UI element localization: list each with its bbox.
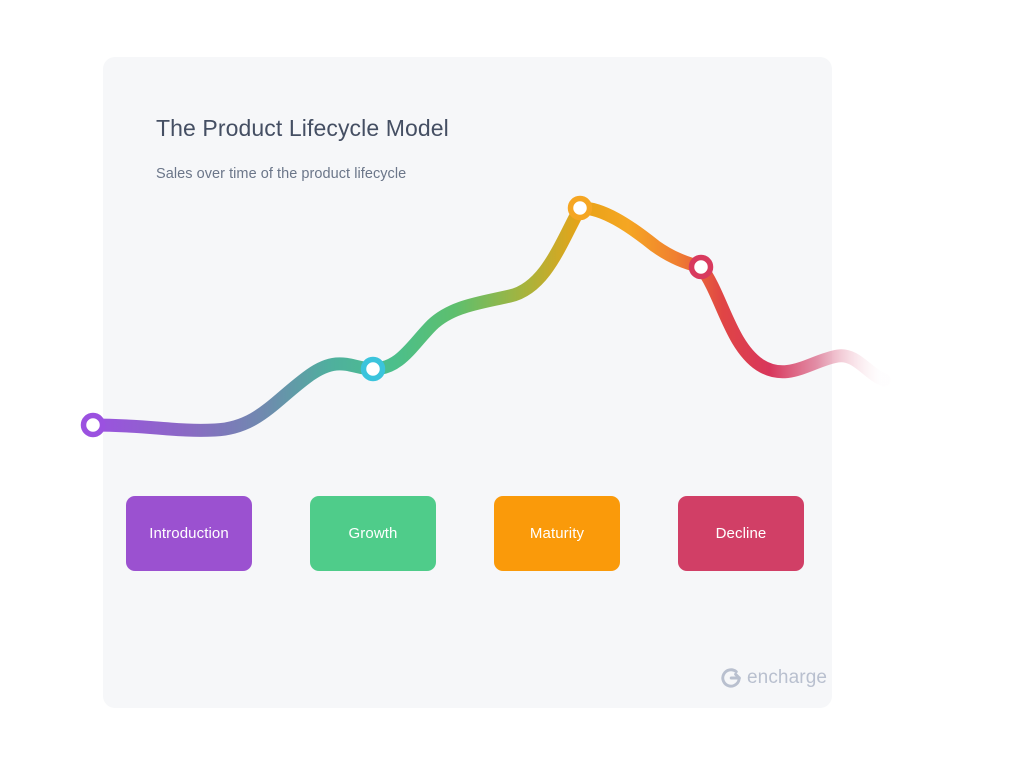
stage-label-introduction: Introduction (149, 525, 229, 542)
stage-box-decline[interactable]: Decline (678, 496, 804, 571)
encharge-logo: encharge (719, 666, 827, 690)
stage-label-growth: Growth (349, 525, 398, 542)
stage-box-introduction[interactable]: Introduction (126, 496, 252, 571)
stage-label-maturity: Maturity (530, 525, 584, 542)
encharge-logo-text: encharge (747, 667, 827, 689)
curve-node-introduction[interactable] (84, 416, 103, 435)
stage-label-decline: Decline (716, 525, 767, 542)
page-title: The Product Lifecycle Model (156, 115, 449, 142)
stage-box-maturity[interactable]: Maturity (494, 496, 620, 571)
lifecycle-card (103, 57, 832, 708)
chart-subtitle: Sales over time of the product lifecycle (156, 166, 406, 182)
encharge-circular-c-icon (719, 666, 743, 690)
stage-box-growth[interactable]: Growth (310, 496, 436, 571)
